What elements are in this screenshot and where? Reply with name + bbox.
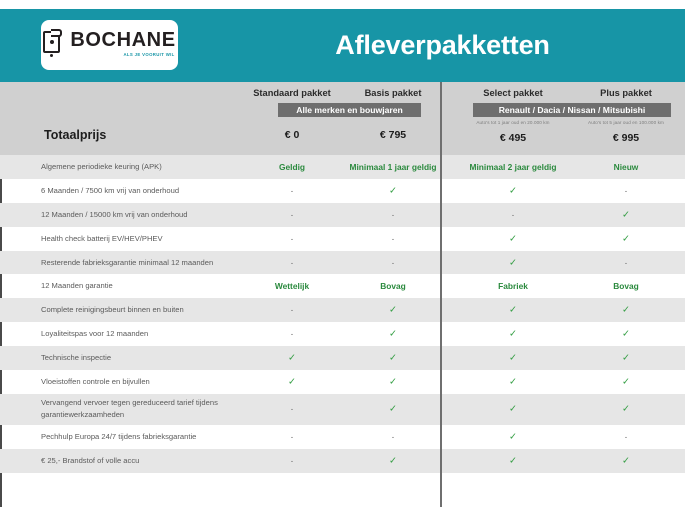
column-title-select: Select pakket	[458, 88, 568, 98]
table-cell-dash: -	[237, 258, 347, 267]
table-cell-check: ✓	[458, 456, 568, 466]
row-label: Health check batterij EV/HEV/PHEV	[41, 233, 241, 245]
table-row: 12 Maanden garantieWettelijkBovagFabriek…	[0, 274, 685, 298]
table-cell-dash: -	[237, 186, 347, 195]
table-cell-check: ✓	[338, 456, 448, 466]
price-select: € 495	[458, 132, 568, 144]
table-row: Vervangend vervoer tegen gereduceerd tar…	[0, 394, 685, 425]
logo-tagline: ALS JE VOORUIT WIL	[123, 53, 174, 57]
table-cell-check: ✓	[338, 186, 448, 196]
row-label: Algemene periodieke keuring (APK)	[41, 161, 241, 173]
table-cell-dash: -	[237, 432, 347, 441]
row-label: Vloeistoffen controle en bijvullen	[41, 376, 241, 388]
row-label: Technische inspectie	[41, 352, 241, 364]
column-note-select: Auto's tot 1 jaar oud en 20.000 km	[458, 120, 568, 125]
table-cell-check: ✓	[571, 306, 681, 316]
column-title-plus: Plus pakket	[571, 88, 681, 98]
table-row: Algemene periodieke keuring (APK)GeldigM…	[0, 155, 685, 179]
table-footer-row	[0, 473, 685, 507]
table-cell-check: ✓	[458, 405, 568, 415]
table-cell-check: ✓	[458, 234, 568, 244]
row-label: 12 Maanden / 15000 km vrij van onderhoud	[41, 209, 241, 221]
table-cell-check: ✓	[571, 234, 681, 244]
table-cell-dash: -	[338, 234, 448, 243]
table-cell-check: ✓	[338, 329, 448, 339]
table-cell-dash: -	[237, 234, 347, 243]
table-row: 6 Maanden / 7500 km vrij van onderhoud-✓…	[0, 179, 685, 203]
table-cell-dash: -	[571, 258, 681, 267]
bochane-logo: BOCHANE ALS JE VOORUIT WIL	[41, 20, 178, 70]
table-cell-check: ✓	[338, 306, 448, 316]
row-label: 6 Maanden / 7500 km vrij van onderhoud	[41, 185, 241, 197]
table-cell-check: ✓	[571, 329, 681, 339]
table-cell-dash: -	[338, 432, 448, 441]
logo-wordmark: BOCHANE	[70, 30, 175, 50]
group-pill-alle-merken: Alle merken en bouwjaren	[278, 103, 421, 117]
table-cell-text: Bovag	[571, 281, 681, 291]
table-row: Health check batterij EV/HEV/PHEV--✓✓	[0, 227, 685, 251]
row-label: € 25,- Brandstof of volle accu	[41, 455, 241, 467]
table-cell-check: ✓	[458, 377, 568, 387]
column-title-basis: Basis pakket	[338, 88, 448, 98]
comparison-table: Algemene periodieke keuring (APK)GeldigM…	[0, 155, 685, 500]
table-row: Resterende fabrieksgarantie minimaal 12 …	[0, 251, 685, 275]
table-cell-dash: -	[571, 432, 681, 441]
table-cell-check: ✓	[571, 210, 681, 220]
bochane-mark-icon	[43, 31, 65, 57]
totaalprijs-label: Totaalprijs	[44, 128, 106, 142]
page-title: Afleverpakketten	[200, 9, 685, 82]
table-cell-check: ✓	[458, 329, 568, 339]
row-label: 12 Maanden garantie	[41, 281, 241, 293]
table-cell-text: Wettelijk	[237, 281, 347, 291]
table-cell-check: ✓	[237, 353, 347, 363]
table-row: Pechhulp Europa 24/7 tijdens fabrieksgar…	[0, 425, 685, 449]
row-label: Resterende fabrieksgarantie minimaal 12 …	[41, 257, 241, 269]
table-cell-text: Minimaal 2 jaar geldig	[458, 162, 568, 172]
table-cell-dash: -	[237, 456, 347, 465]
table-row: Loyaliteitspas voor 12 maanden-✓✓✓	[0, 322, 685, 346]
table-cell-check: ✓	[338, 405, 448, 415]
column-title-standaard: Standaard pakket	[237, 88, 347, 98]
table-cell-dash: -	[237, 405, 347, 414]
table-cell-dash: -	[571, 186, 681, 195]
table-cell-dash: -	[338, 258, 448, 267]
row-label: Vervangend vervoer tegen gereduceerd tar…	[41, 398, 241, 422]
table-cell-text: Minimaal 1 jaar geldig	[338, 162, 448, 172]
column-note-plus: Auto's tot 5 jaar oud en 100.000 km	[571, 120, 681, 125]
table-cell-dash: -	[237, 330, 347, 339]
table-cell-check: ✓	[458, 258, 568, 268]
price-basis: € 795	[338, 129, 448, 141]
price-standaard: € 0	[237, 129, 347, 141]
row-label: Complete reinigingsbeurt binnen en buite…	[41, 304, 241, 316]
table-cell-check: ✓	[458, 306, 568, 316]
table-cell-dash: -	[237, 306, 347, 315]
table-row: 12 Maanden / 15000 km vrij van onderhoud…	[0, 203, 685, 227]
price-plus: € 995	[571, 132, 681, 144]
table-cell-dash: -	[237, 210, 347, 219]
table-cell-text: Nieuw	[571, 162, 681, 172]
table-cell-text: Geldig	[237, 162, 347, 172]
table-cell-check: ✓	[571, 456, 681, 466]
page-banner: BOCHANE ALS JE VOORUIT WIL Afleverpakket…	[0, 9, 685, 82]
table-row: € 25,- Brandstof of volle accu-✓✓✓	[0, 449, 685, 473]
table-cell-check: ✓	[458, 353, 568, 363]
row-label: Loyaliteitspas voor 12 maanden	[41, 328, 241, 340]
table-row: Complete reinigingsbeurt binnen en buite…	[0, 298, 685, 322]
table-cell-check: ✓	[237, 377, 347, 387]
table-row: Technische inspectie✓✓✓✓	[0, 346, 685, 370]
table-cell-check: ✓	[458, 186, 568, 196]
table-cell-check: ✓	[571, 405, 681, 415]
table-cell-check: ✓	[571, 353, 681, 363]
table-cell-text: Fabriek	[458, 281, 568, 291]
table-cell-check: ✓	[571, 377, 681, 387]
table-row: Vloeistoffen controle en bijvullen✓✓✓✓	[0, 370, 685, 394]
afleverpakketten-sheet: BOCHANE ALS JE VOORUIT WIL Afleverpakket…	[0, 0, 685, 514]
table-cell-dash: -	[458, 210, 568, 219]
group-pill-renault-dacia-nissan-mitsubishi: Renault / Dacia / Nissan / Mitsubishi	[473, 103, 671, 117]
row-label: Pechhulp Europa 24/7 tijdens fabrieksgar…	[41, 431, 241, 443]
table-cell-check: ✓	[338, 377, 448, 387]
table-cell-text: Bovag	[338, 281, 448, 291]
table-cell-check: ✓	[338, 353, 448, 363]
table-cell-dash: -	[338, 210, 448, 219]
footer-group-divider	[440, 473, 442, 507]
table-cell-check: ✓	[458, 432, 568, 442]
